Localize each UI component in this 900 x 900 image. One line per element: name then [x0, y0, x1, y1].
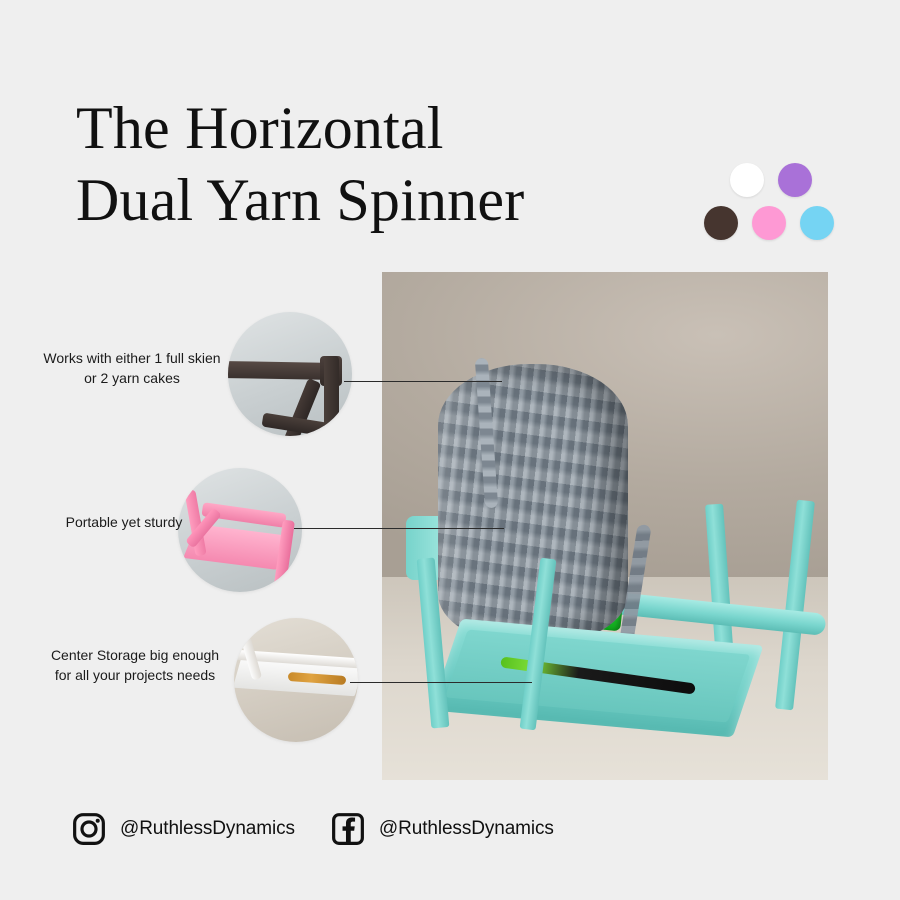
feature-thumbnail-skein-capacity — [228, 312, 352, 436]
color-swatch-white[interactable] — [730, 163, 764, 197]
color-swatch-pink[interactable] — [752, 206, 786, 240]
feature-label-center-storage: Center Storage big enough for all your p… — [50, 645, 220, 685]
feature-label-skein-capacity: Works with either 1 full skien or 2 yarn… — [42, 348, 222, 388]
feature-thumbnail-center-storage — [234, 618, 358, 742]
page-title: The Horizontal Dual Yarn Spinner — [76, 92, 696, 236]
feature-label-portability: Portable yet sturdy — [34, 512, 214, 532]
leader-line-portability — [294, 528, 504, 529]
main-product-photo — [382, 272, 828, 780]
social-facebook[interactable]: @RuthlessDynamics — [331, 812, 554, 846]
leader-line-center-storage — [350, 682, 532, 683]
color-swatch-brown[interactable] — [704, 206, 738, 240]
instagram-icon[interactable] — [72, 812, 106, 846]
facebook-icon[interactable] — [331, 812, 365, 846]
title-line-1: The Horizontal — [76, 92, 696, 164]
social-instagram[interactable]: @RuthlessDynamics — [72, 812, 295, 846]
title-line-2: Dual Yarn Spinner — [76, 164, 696, 236]
facebook-handle[interactable]: @RuthlessDynamics — [379, 818, 554, 840]
color-swatch-purple[interactable] — [778, 163, 812, 197]
social-footer: @RuthlessDynamics @RuthlessDynamics — [72, 812, 554, 846]
leader-line-skein-capacity — [344, 381, 502, 382]
infographic-canvas: The Horizontal Dual Yarn Spinner — [0, 0, 900, 900]
instagram-handle[interactable]: @RuthlessDynamics — [120, 818, 295, 840]
color-swatch-blue[interactable] — [800, 206, 834, 240]
color-swatch-group — [698, 163, 834, 243]
gray-yarn-cake — [438, 364, 628, 644]
